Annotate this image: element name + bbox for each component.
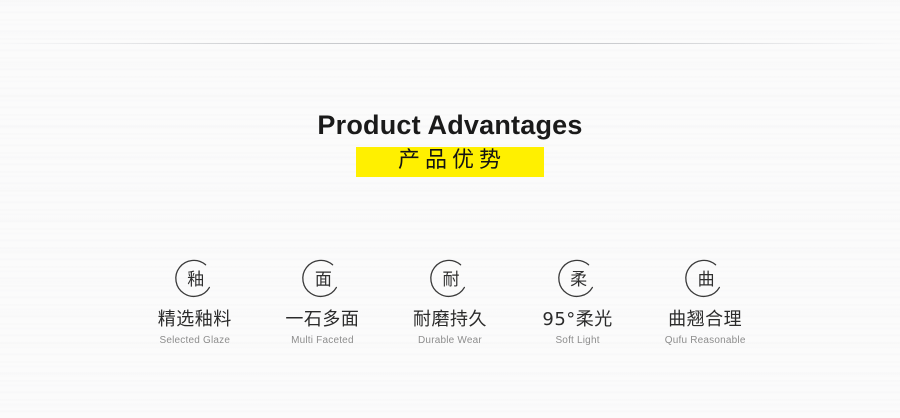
feature-item: 面 一石多面 Multi Faceted xyxy=(259,258,387,347)
feature-item: 釉 精选釉料 Selected Glaze xyxy=(131,258,259,347)
feature-label-english: Multi Faceted xyxy=(259,334,387,347)
feature-item: 曲 曲翘合理 Qufu Reasonable xyxy=(641,258,769,347)
ring-glyph-mian-icon: 面 xyxy=(300,258,344,302)
ring-glyph-label: 柔 xyxy=(556,258,601,302)
top-divider xyxy=(0,43,900,44)
feature-label-chinese: 耐磨持久 xyxy=(386,309,514,331)
feature-label-english: Soft Light xyxy=(514,334,642,347)
ring-glyph-qu-icon: 曲 xyxy=(683,258,727,302)
section-heading: Product Advantages 产品优势 xyxy=(0,108,900,177)
ring-glyph-label: 曲 xyxy=(683,258,728,302)
feature-label-english: Qufu Reasonable xyxy=(641,334,769,347)
feature-item: 柔 95°柔光 Soft Light xyxy=(514,258,642,347)
ring-glyph-label: 耐 xyxy=(428,258,473,302)
feature-label-chinese: 95°柔光 xyxy=(514,309,642,331)
feature-label-chinese: 一石多面 xyxy=(259,309,387,331)
page-background xyxy=(0,0,900,418)
feature-item: 耐 耐磨持久 Durable Wear xyxy=(386,258,514,347)
page-title-chinese-wrapper: 产品优势 xyxy=(0,147,900,177)
ring-glyph-you-icon: 釉 xyxy=(173,258,217,302)
feature-list: 釉 精选釉料 Selected Glaze 面 一石多面 Multi Facet… xyxy=(131,258,769,347)
feature-label-chinese: 曲翘合理 xyxy=(641,309,769,331)
ring-glyph-label: 釉 xyxy=(173,258,218,302)
feature-label-english: Durable Wear xyxy=(386,334,514,347)
ring-glyph-nai-icon: 耐 xyxy=(428,258,472,302)
feature-label-english: Selected Glaze xyxy=(131,334,259,347)
feature-label-chinese: 精选釉料 xyxy=(131,309,259,331)
ring-glyph-label: 面 xyxy=(300,258,345,302)
page-title-english: Product Advantages xyxy=(0,108,900,142)
ring-glyph-rou-icon: 柔 xyxy=(556,258,600,302)
page-title-chinese: 产品优势 xyxy=(356,147,544,177)
